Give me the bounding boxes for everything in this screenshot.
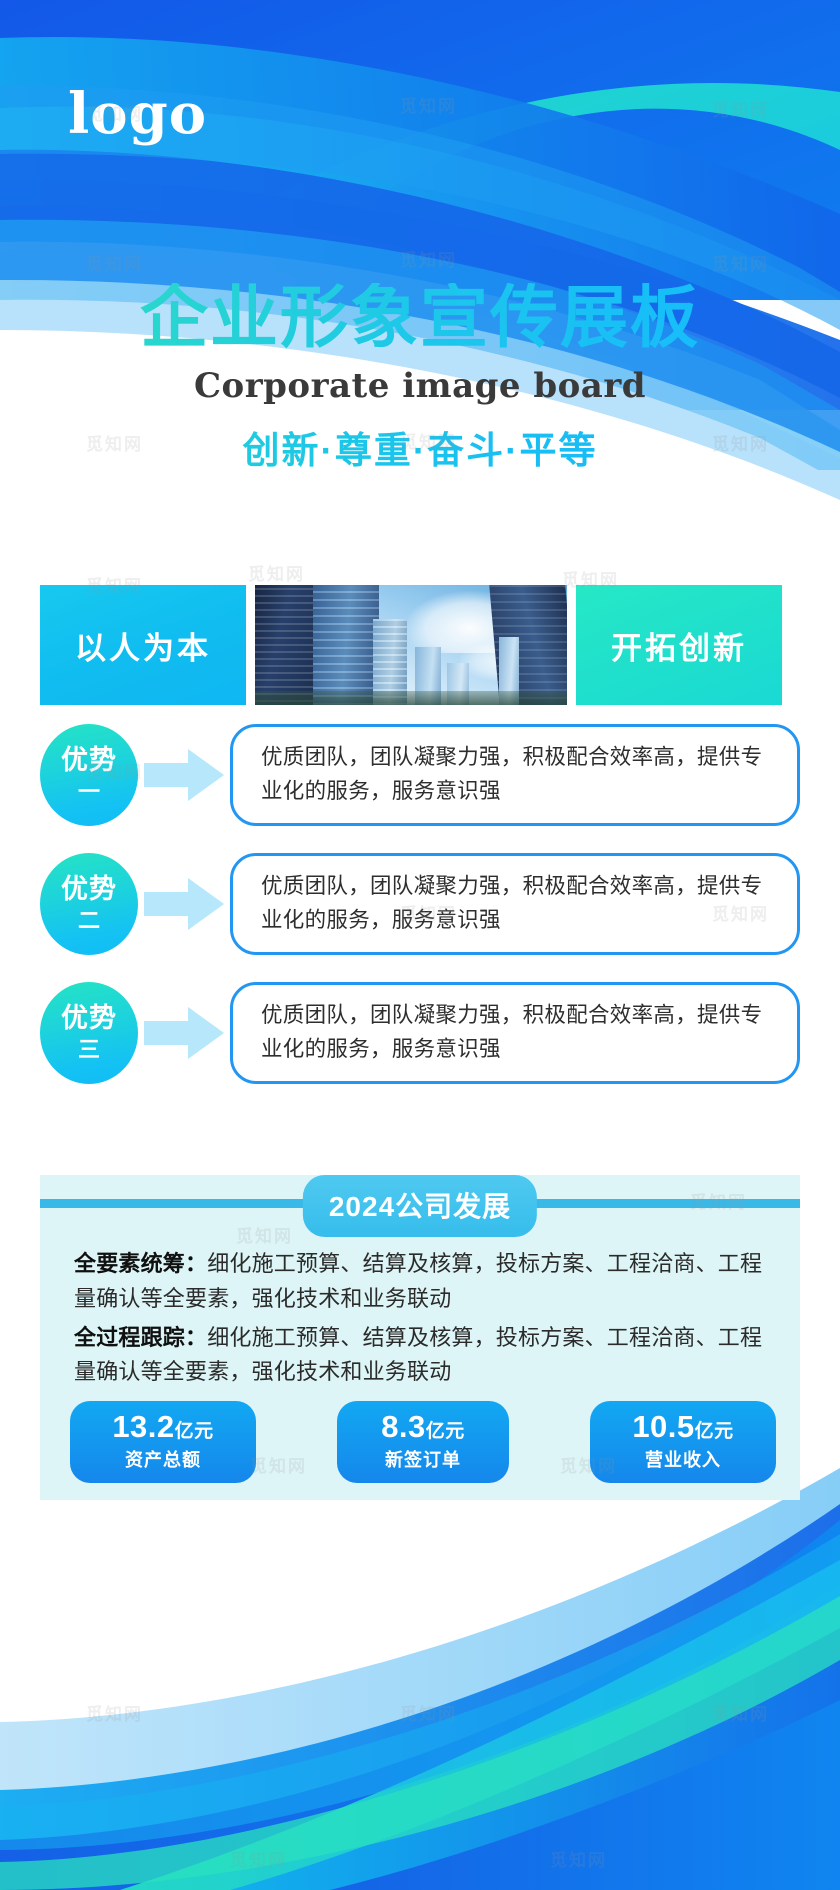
watermark: 觅知网 [86,250,143,275]
advantage-text-box: 优质团队，团队凝聚力强，积极配合效率高，提供专业化的服务，服务意识强 [230,982,800,1084]
watermark: 觅知网 [248,560,305,585]
watermark: 觅知网 [400,246,457,271]
watermark: 觅知网 [712,96,769,121]
value-banner: 以人为本 开拓创新 [40,585,800,705]
headline-block: 企业形象宣传展板 Corporate image board 创新·尊重·奋斗·… [0,283,840,474]
section-title-badge: 2024公司发展 [303,1175,537,1237]
advantage-badge-number: 二 [78,910,100,932]
arrow-right-icon [138,749,230,801]
banner-left-label: 以人为本 [75,623,211,668]
stat-number: 8.3 [381,1409,426,1444]
photo-building-2 [313,585,379,705]
watermark: 觅知网 [550,1846,607,1871]
advantage-badge-title: 优势 [61,876,117,903]
watermark: 觅知网 [712,250,769,275]
advantage-badge: 优势 一 [40,724,138,826]
banner-panel-left: 以人为本 [40,585,246,705]
watermark: 觅知网 [230,1846,287,1871]
advantage-text: 优质团队，团队凝聚力强，积极配合效率高，提供专业化的服务，服务意识强 [261,741,777,808]
stat-label: 资产总额 [70,1446,256,1472]
banner-right-label: 开拓创新 [611,623,747,668]
poster-root: logo 企业形象宣传展板 Corporate image board 创新·尊… [0,0,840,1890]
development-paragraph-label: 全要素统筹： [74,1251,207,1276]
development-section: 2024公司发展 全要素统筹：细化施工预算、结算及核算，投标方案、工程洽商、工程… [40,1175,800,1500]
stat-value: 8.3亿元 [337,1411,509,1444]
advantage-text-box: 优质团队，团队凝聚力强，积极配合效率高，提供专业化的服务，服务意识强 [230,853,800,955]
stat-unit: 亿元 [426,1421,465,1442]
watermark: 觅知网 [86,1700,143,1725]
logo[interactable]: logo [68,86,207,142]
advantage-badge-number: 三 [78,1039,100,1061]
stat-unit: 亿元 [175,1421,214,1442]
stat-card-orders: 8.3亿元 新签订单 [337,1401,509,1483]
stat-card-assets: 13.2亿元 资产总额 [70,1401,256,1483]
advantage-row: 优势 一 优质团队，团队凝聚力强，积极配合效率高，提供专业化的服务，服务意识强 [40,725,800,825]
stat-unit: 亿元 [695,1421,734,1442]
development-body: 全要素统筹：细化施工预算、结算及核算，投标方案、工程洽商、工程量确认等全要素，强… [74,1247,772,1394]
stat-number: 10.5 [632,1409,694,1444]
advantage-row: 优势 二 优质团队，团队凝聚力强，积极配合效率高，提供专业化的服务，服务意识强 [40,854,800,954]
stat-label: 新签订单 [337,1446,509,1472]
advantages-list: 优势 一 优质团队，团队凝聚力强，积极配合效率高，提供专业化的服务，服务意识强 … [40,725,800,1112]
advantage-badge-title: 优势 [61,1005,117,1032]
advantage-text: 优质团队，团队凝聚力强，积极配合效率高，提供专业化的服务，服务意识强 [261,870,777,937]
advantage-badge-number: 一 [78,781,100,803]
advantage-row: 优势 三 优质团队，团队凝聚力强，积极配合效率高，提供专业化的服务，服务意识强 [40,983,800,1083]
development-paragraph: 全要素统筹：细化施工预算、结算及核算，投标方案、工程洽商、工程量确认等全要素，强… [74,1247,772,1317]
advantage-badge-title: 优势 [61,747,117,774]
advantage-text: 优质团队，团队凝聚力强，积极配合效率高，提供专业化的服务，服务意识强 [261,999,777,1066]
page-subtitle-en: Corporate image board [0,366,840,406]
watermark: 觅知网 [712,1700,769,1725]
advantage-text-box: 优质团队，团队凝聚力强，积极配合效率高，提供专业化的服务，服务意识强 [230,724,800,826]
arrow-right-icon [138,878,230,930]
development-paragraph-label: 全过程跟踪： [74,1325,207,1350]
page-title: 企业形象宣传展板 [0,283,840,354]
watermark: 觅知网 [400,92,457,117]
advantage-badge: 优势 二 [40,853,138,955]
stat-value: 10.5亿元 [590,1411,776,1444]
stat-value: 13.2亿元 [70,1411,256,1444]
stat-card-revenue: 10.5亿元 营业收入 [590,1401,776,1483]
photo-ground [255,691,567,705]
stat-number: 13.2 [112,1409,174,1444]
slogan: 创新·尊重·奋斗·平等 [0,420,840,474]
watermark: 觅知网 [400,1700,457,1725]
arrow-right-icon [138,1007,230,1059]
development-paragraph: 全过程跟踪：细化施工预算、结算及核算，投标方案、工程洽商、工程量确认等全要素，强… [74,1321,772,1391]
advantage-badge: 优势 三 [40,982,138,1084]
stats-row: 13.2亿元 资产总额 8.3亿元 新签订单 10.5亿元 营业收入 [70,1401,776,1483]
banner-panel-right: 开拓创新 [576,585,782,705]
stat-label: 营业收入 [590,1446,776,1472]
banner-photo [255,585,567,705]
